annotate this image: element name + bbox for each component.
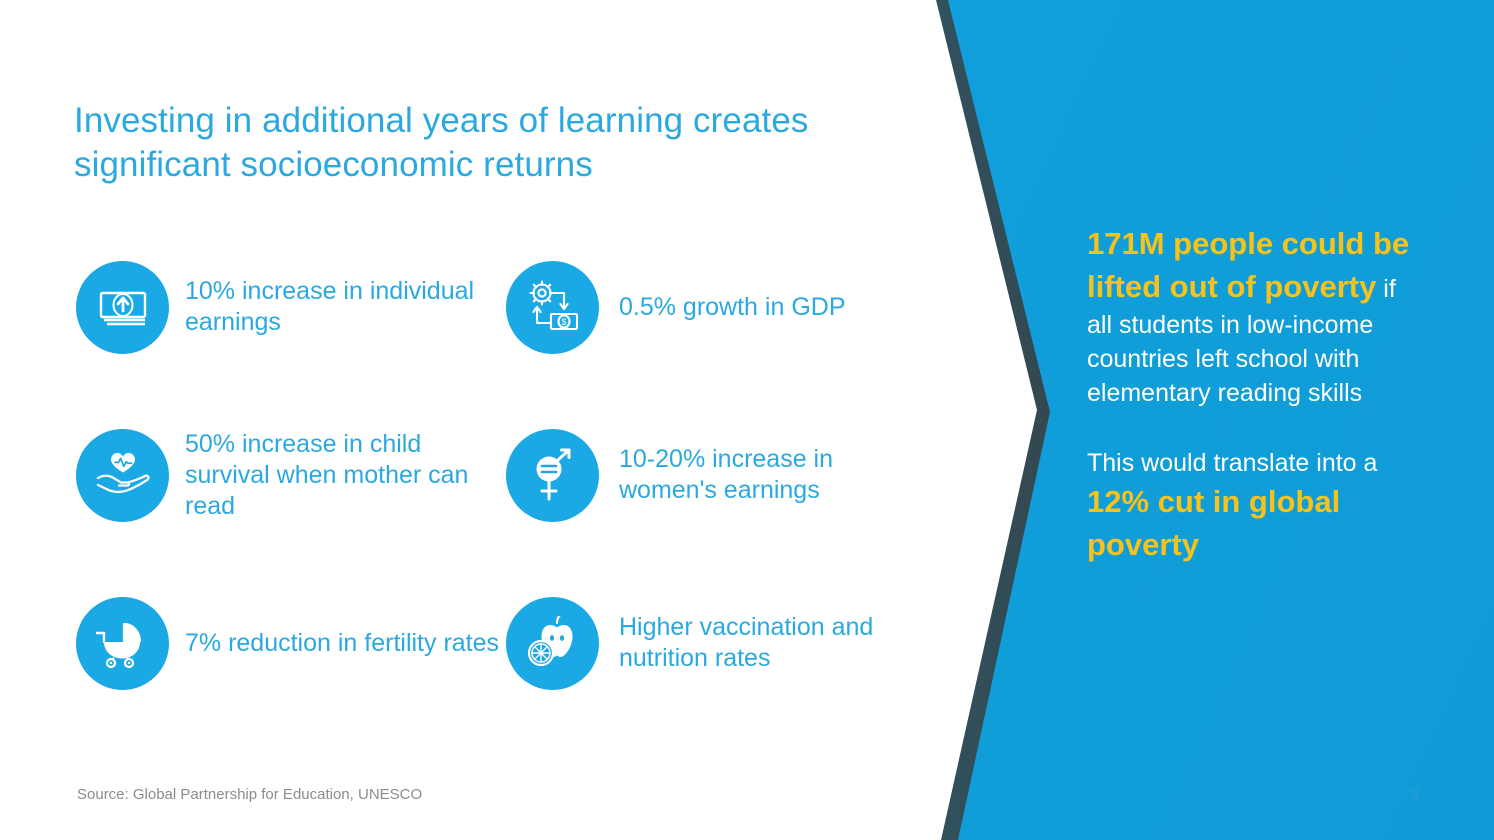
slide: Investing in additional years of learnin… — [0, 0, 1494, 840]
apple-citrus-icon — [506, 597, 599, 690]
panel-paragraph-poverty: 171M people could be lifted out of pover… — [1087, 222, 1417, 410]
source-note: Source: Global Partnership for Education… — [77, 785, 422, 804]
facts-row: 10% increase in individual earnings — [76, 246, 916, 368]
highlight-panel: 171M people could be lifted out of pover… — [1087, 222, 1417, 566]
panel-highlight-171m: 171M people could be lifted out of pover… — [1087, 226, 1409, 304]
hand-heart-pulse-icon — [76, 429, 169, 522]
gear-cycle-dollar-icon: $ — [506, 261, 599, 354]
fact-label: Higher vaccination and nutrition rates — [619, 612, 906, 674]
fact-label: 10% increase in individual earnings — [185, 276, 506, 338]
fact-item-gdp-growth: $ 0.5% growth in GDP — [506, 246, 906, 368]
fact-item-vaccination-nutrition: Higher vaccination and nutrition rates — [506, 582, 906, 704]
banknote-up-arrow-icon — [76, 261, 169, 354]
fact-label: 7% reduction in fertility rates — [185, 628, 499, 659]
panel-paragraph-global-poverty: This would translate into a 12% cut in g… — [1087, 446, 1417, 566]
fact-item-womens-earnings: 10-20% increase in women's earnings — [506, 414, 906, 536]
facts-row: 7% reduction in fertility rates — [76, 582, 916, 704]
fact-label: 50% increase in child survival when moth… — [185, 429, 506, 522]
gender-equality-icon — [506, 429, 599, 522]
svg-text:$: $ — [561, 317, 566, 327]
page-number: 9 — [1400, 785, 1430, 804]
baby-stroller-icon — [76, 597, 169, 690]
facts-grid: 10% increase in individual earnings — [76, 246, 916, 750]
fact-item-fertility-rates: 7% reduction in fertility rates — [76, 582, 506, 704]
facts-row: 50% increase in child survival when moth… — [76, 414, 916, 536]
fact-label: 10-20% increase in women's earnings — [619, 444, 906, 506]
fact-label: 0.5% growth in GDP — [619, 292, 846, 323]
panel-highlight-12-percent: 12% cut in global poverty — [1087, 484, 1340, 562]
panel-lead-text: This would translate into a — [1087, 449, 1377, 477]
fact-item-individual-earnings: 10% increase in individual earnings — [76, 246, 506, 368]
page-title: Investing in additional years of learnin… — [74, 99, 904, 187]
fact-item-child-survival: 50% increase in child survival when moth… — [76, 414, 506, 536]
